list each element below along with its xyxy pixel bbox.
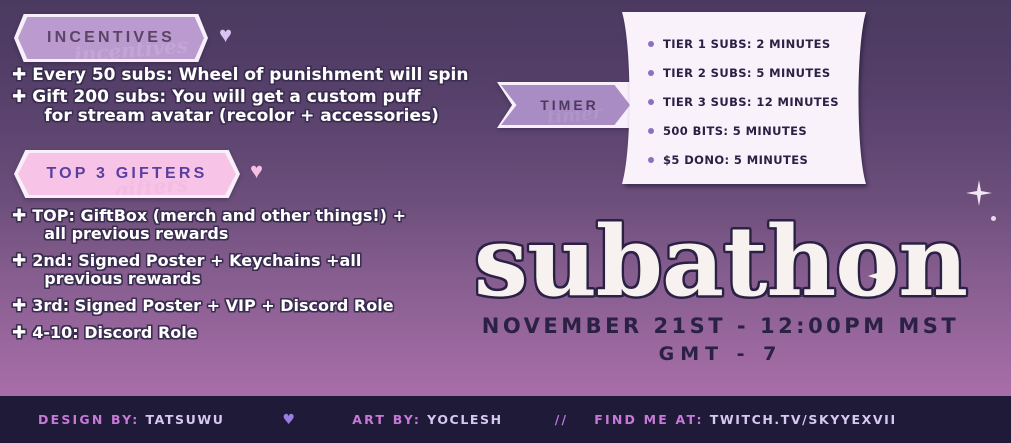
- bullet-icon: [648, 128, 654, 134]
- list-item-sub: previous rewards: [32, 270, 361, 288]
- list-item-main: 4-10: Discord Role: [32, 323, 197, 342]
- list-item: ✚ 4-10: Discord Role: [12, 324, 472, 342]
- list-item: TIER 2 SUBS: 5 MINUTES: [648, 58, 884, 87]
- timer-item-label: TIER 3 SUBS: 12 MINUTES: [663, 95, 839, 109]
- event-timezone: GMT - 7: [430, 343, 1011, 365]
- footer-credits-bar: DESIGN BY: TATSUWU ♥ ART BY: YOCLESH // …: [0, 396, 1011, 443]
- list-item: ✚ TOP: GiftBox (merch and other things!)…: [12, 207, 472, 243]
- incentives-tag-body: incentives INCENTIVES: [18, 17, 204, 59]
- gifters-tag-border: gifters TOP 3 GIFTERS: [14, 150, 240, 198]
- plus-icon: ✚: [12, 297, 26, 315]
- list-item-main: 2nd: Signed Poster + Keychains +all: [32, 251, 361, 270]
- list-item: TIER 3 SUBS: 12 MINUTES: [648, 87, 884, 116]
- list-item: ✚ Every 50 subs: Wheel of punishment wil…: [12, 66, 512, 85]
- list-item-main: Gift 200 subs: You will get a custom puf…: [32, 87, 420, 107]
- page-title: subathon: [430, 218, 1011, 306]
- list-item: TIER 1 SUBS: 2 MINUTES: [648, 29, 884, 58]
- find-me-at-label: FIND ME AT:: [594, 412, 703, 427]
- list-item-main: TOP: GiftBox (merch and other things!) +: [32, 206, 406, 225]
- incentives-list: ✚ Every 50 subs: Wheel of punishment wil…: [12, 66, 512, 129]
- bullet-icon: [648, 157, 654, 163]
- bullet-icon: [648, 70, 654, 76]
- list-item: ✚ 3rd: Signed Poster + VIP + Discord Rol…: [12, 297, 472, 315]
- incentives-tag-label: INCENTIVES: [47, 29, 175, 47]
- list-item: ✚ Gift 200 subs: You will get a custom p…: [12, 88, 512, 126]
- gifters-tag-label: TOP 3 GIFTERS: [46, 165, 207, 183]
- design-by-value: TATSUWU: [145, 412, 224, 427]
- design-by-label: DESIGN BY:: [38, 412, 139, 427]
- twitch-url[interactable]: TWITCH.TV/SKYYEXVII: [710, 412, 897, 427]
- bullet-icon: [648, 41, 654, 47]
- sparkle-icon: [966, 180, 992, 206]
- separator: //: [555, 412, 569, 427]
- list-item-sub: for stream avatar (recolor + accessories…: [32, 107, 439, 126]
- plus-icon: ✚: [12, 88, 26, 106]
- gifters-tag: gifters TOP 3 GIFTERS: [14, 150, 240, 198]
- incentives-tag: incentives INCENTIVES: [14, 14, 208, 62]
- timer-item-label: TIER 1 SUBS: 2 MINUTES: [663, 37, 831, 51]
- list-item: $5 DONO: 5 MINUTES: [648, 145, 884, 174]
- plus-icon: ✚: [12, 66, 26, 84]
- incentives-tag-border: incentives INCENTIVES: [14, 14, 208, 62]
- list-item: ✚ 2nd: Signed Poster + Keychains +all pr…: [12, 252, 472, 288]
- bullet-icon: [648, 99, 654, 105]
- timer-tag-label: TIMER: [532, 97, 599, 113]
- subathon-poster: incentives INCENTIVES ♥ ✚ Every 50 subs:…: [0, 0, 1011, 443]
- list-item-sub: all previous rewards: [32, 225, 406, 243]
- art-by-value: YOCLESH: [427, 412, 503, 427]
- list-item: 500 BITS: 5 MINUTES: [648, 116, 884, 145]
- heart-icon: ♥: [250, 160, 263, 182]
- timer-item-label: 500 BITS: 5 MINUTES: [663, 124, 807, 138]
- list-item-main: Every 50 subs: Wheel of punishment will …: [32, 65, 468, 85]
- heart-icon: ♥: [283, 412, 298, 428]
- timer-item-label: TIER 2 SUBS: 5 MINUTES: [663, 66, 831, 80]
- plus-icon: ✚: [12, 252, 26, 270]
- list-item-main: 3rd: Signed Poster + VIP + Discord Role: [32, 296, 393, 315]
- heart-icon: ♥: [219, 24, 232, 46]
- timer-card-list: TIER 1 SUBS: 2 MINUTES TIER 2 SUBS: 5 MI…: [604, 12, 884, 174]
- art-by-label: ART BY:: [352, 412, 421, 427]
- plus-icon: ✚: [12, 207, 26, 225]
- timer-item-label: $5 DONO: 5 MINUTES: [663, 153, 808, 167]
- title-block: subathon NOVEMBER 21ST - 12:00PM MST GMT…: [430, 218, 1011, 365]
- gifters-list: ✚ TOP: GiftBox (merch and other things!)…: [12, 207, 472, 351]
- plus-icon: ✚: [12, 324, 26, 342]
- timer-card: TIER 1 SUBS: 2 MINUTES TIER 2 SUBS: 5 MI…: [604, 12, 884, 184]
- gifters-tag-body: gifters TOP 3 GIFTERS: [18, 153, 236, 195]
